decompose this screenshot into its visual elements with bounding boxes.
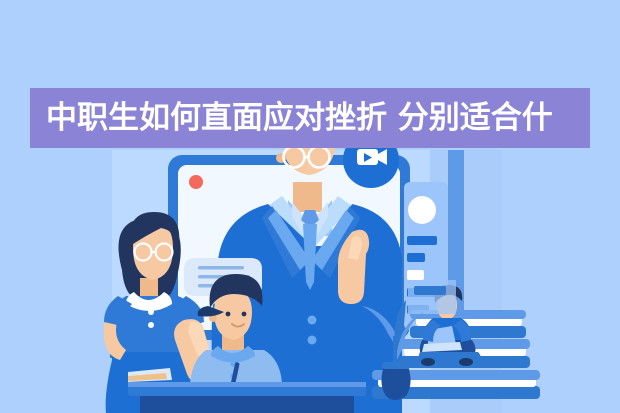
online-classroom-illustration (0, 0, 620, 413)
red-dot-indicator (189, 175, 203, 189)
title-banner: 中职生如何直面应对挫折 分别适合什 (30, 88, 590, 148)
page-title: 中职生如何直面应对挫折 分别适合什 (30, 103, 553, 134)
screenshot-root: 中职生如何直面应对挫折 分别适合什 (0, 0, 620, 413)
wall-block (408, 280, 456, 314)
desk (128, 382, 366, 413)
avatar-circle (408, 196, 436, 224)
